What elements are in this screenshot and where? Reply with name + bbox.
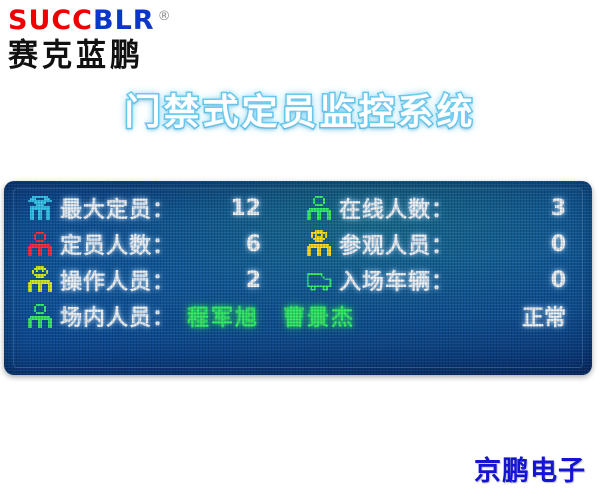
led-row-visitors: 参观人员： 0: [289, 226, 592, 262]
led-value-visitors: 0: [551, 232, 592, 257]
brand-logo: SUCCBLR® 赛克蓝鹏: [8, 6, 238, 74]
person-helmet-icon: [26, 266, 54, 294]
led-label-max-capacity: 最大定员：: [60, 192, 175, 224]
led-value-vehicles: 0: [551, 268, 592, 293]
led-value-operators: 2: [246, 268, 289, 293]
led-value-online-count: 3: [551, 196, 592, 221]
led-row-operators: 操作人员： 2: [4, 262, 289, 298]
logo-chinese-name: 赛克蓝鹏: [8, 38, 238, 74]
led-label-quota-count: 定员人数：: [60, 228, 175, 260]
led-row-onsite-personnel: 场内人员： 程军旭 曹景杰: [4, 298, 289, 334]
led-value-quota-count: 6: [246, 232, 289, 257]
footer-company-name: 京鹏电子: [474, 449, 586, 488]
led-display-panel: 最大定员： 12 定员人: [4, 181, 592, 375]
led-status-badge: 正常: [522, 300, 592, 332]
led-row-online-count: 在线人数： 3: [289, 190, 592, 226]
led-right-column: 在线人数： 3: [289, 190, 592, 375]
led-value-max-capacity: 12: [230, 196, 289, 221]
led-label-operators: 操作人员：: [60, 264, 175, 296]
logo-wordmark-succ: SUCC: [8, 5, 93, 36]
person-helmet-icon: [305, 230, 333, 258]
led-row-max-capacity: 最大定员： 12: [4, 190, 289, 226]
led-row-vehicles: 入场车辆： 0: [289, 262, 592, 298]
page-title: 门禁式定员监控系统: [0, 90, 600, 136]
led-label-visitors: 参观人员：: [339, 228, 454, 260]
led-label-onsite-personnel: 场内人员：: [60, 300, 175, 332]
led-row-quota-count: 定员人数： 6: [4, 226, 289, 262]
person-icon: [26, 230, 54, 258]
truck-icon: [305, 266, 333, 294]
person-icon: [305, 194, 333, 222]
logo-wordmark-blr: BLR: [93, 5, 155, 36]
logo-wordmark: SUCCBLR®: [8, 6, 238, 36]
registered-trademark-icon: ®: [158, 2, 172, 32]
led-label-vehicles: 入场车辆：: [339, 264, 454, 296]
led-row-status: 正常: [289, 298, 592, 334]
led-left-column: 最大定员： 12 定员人: [4, 190, 289, 375]
person-cap-icon: [26, 194, 54, 222]
person-icon: [26, 302, 54, 330]
led-label-online-count: 在线人数：: [339, 192, 454, 224]
